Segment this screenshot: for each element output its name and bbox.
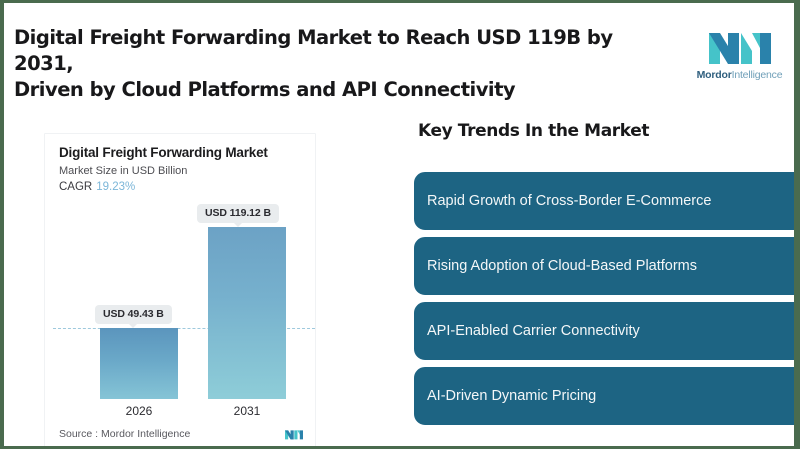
brand-wordmark: MordorIntelligence — [697, 69, 783, 81]
infographic-sheet: Digital Freight Forwarding Market to Rea… — [4, 3, 794, 446]
mordor-m-logo-icon — [709, 27, 771, 64]
cagr-label: CAGR — [59, 181, 92, 193]
trend-card-1-label: Rapid Growth of Cross-Border E-Commerce — [414, 191, 725, 211]
cagr-value: 19.23% — [96, 181, 135, 193]
mordor-m-logo-small-icon — [285, 428, 303, 440]
bar-2031 — [208, 227, 286, 399]
trend-card-2[interactable]: Rising Adoption of Cloud-Based Platforms — [412, 235, 794, 297]
trend-card-4[interactable]: AI-Driven Dynamic Pricing — [412, 365, 794, 427]
chart-plot-area: USD 49.43 B USD 119.12 B — [45, 200, 315, 399]
page-title-line-1: Digital Freight Forwarding Market to Rea… — [14, 26, 613, 75]
bar-value-label-2031: USD 119.12 B — [197, 204, 279, 223]
source-text: Source : Mordor Intelligence — [59, 428, 190, 440]
x-axis-tick-2026: 2026 — [100, 404, 178, 418]
trend-card-2-label: Rising Adoption of Cloud-Based Platforms — [414, 256, 711, 276]
brand-name-bold: Mordor — [697, 69, 732, 81]
trend-card-3-label: API-Enabled Carrier Connectivity — [414, 321, 654, 341]
cagr-row: CAGR19.23% — [59, 181, 135, 193]
page-title-line-2: Driven by Cloud Platforms and API Connec… — [14, 77, 669, 103]
trend-card-1[interactable]: Rapid Growth of Cross-Border E-Commerce — [412, 170, 794, 232]
key-trends-list: Rapid Growth of Cross-Border E-Commerce … — [412, 170, 794, 430]
chart-title: Digital Freight Forwarding Market — [59, 145, 268, 160]
bar-2026 — [100, 328, 178, 399]
key-trends-heading: Key Trends In the Market — [418, 121, 649, 141]
infographic-canvas: Digital Freight Forwarding Market to Rea… — [0, 0, 800, 449]
chart-source-row: Source : Mordor Intelligence — [59, 428, 303, 440]
market-size-chart: Digital Freight Forwarding Market Market… — [45, 134, 315, 446]
x-axis-tick-2031: 2031 — [208, 404, 286, 418]
chart-subtitle: Market Size in USD Billion — [59, 165, 187, 177]
bar-value-label-2026: USD 49.43 B — [95, 305, 172, 324]
brand-logo: MordorIntelligence — [688, 6, 791, 101]
brand-name-light: Intelligence — [732, 69, 783, 81]
trend-card-4-label: AI-Driven Dynamic Pricing — [414, 386, 610, 406]
trend-card-3[interactable]: API-Enabled Carrier Connectivity — [412, 300, 794, 362]
page-title: Digital Freight Forwarding Market to Rea… — [14, 25, 669, 103]
